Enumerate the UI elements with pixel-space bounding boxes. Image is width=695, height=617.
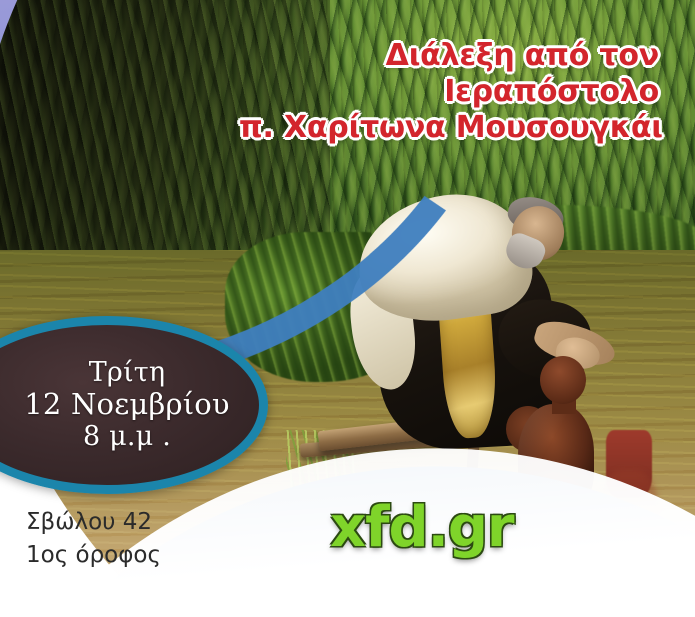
- website-logo[interactable]: xfd.gr: [330, 495, 514, 560]
- date-full: 12 Νοεμβρίου: [24, 388, 230, 421]
- address-street: Σβώλου 42: [26, 506, 161, 539]
- poster-canvas: Διάλεξη από τον Ιεραπόστολο π. Χαρίτωνα …: [0, 0, 695, 617]
- page-title: Διάλεξη από τον Ιεραπόστολο π. Χαρίτωνα …: [239, 38, 659, 146]
- catechumen-head: [540, 356, 586, 404]
- date-weekday: Τρίτη: [24, 358, 230, 389]
- headline-line-3: π. Χαρίτωνα Μουσουγκάι: [239, 110, 659, 146]
- headline-line-2: Ιεραπόστολο: [239, 74, 659, 110]
- date-badge-text: Τρίτη 12 Νοεμβρίου 8 μ.μ .: [24, 358, 230, 453]
- address-floor: 1ος όροφος: [26, 539, 161, 572]
- venue-address: Σβώλου 42 1ος όροφος: [26, 506, 161, 571]
- headline-line-1: Διάλεξη από τον: [239, 38, 659, 74]
- date-time: 8 μ.μ .: [24, 422, 230, 453]
